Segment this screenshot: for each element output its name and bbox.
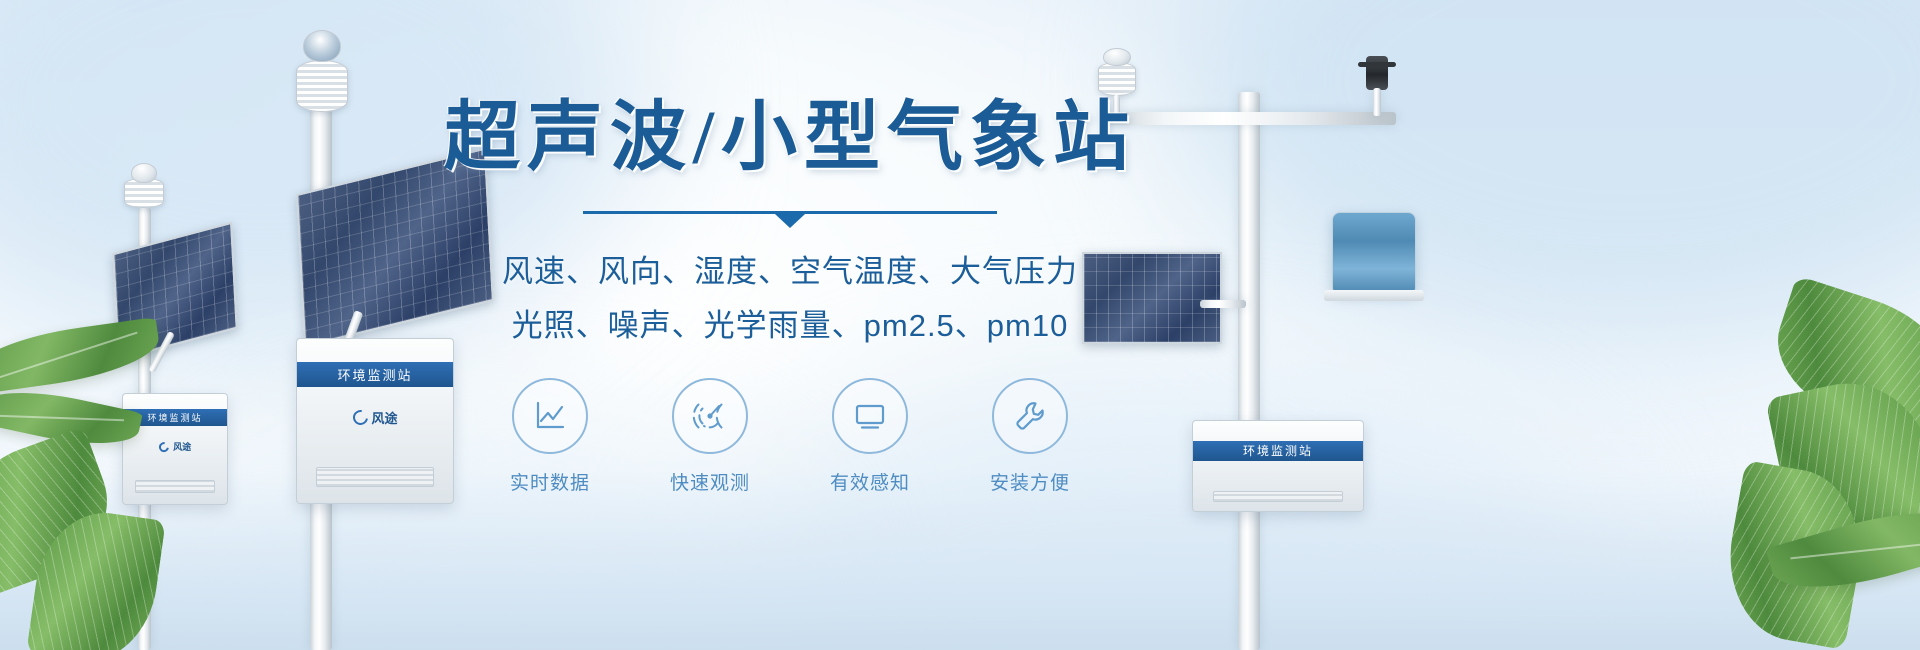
- product-banner: 环境监测站 风途 环境监测站 风途: [0, 0, 1920, 650]
- monitoring-cabinet: 环境监测站: [1192, 420, 1364, 512]
- wrench-icon: [1010, 396, 1050, 436]
- cabinet-label: 环境监测站: [1193, 441, 1363, 461]
- chevron-down-icon: [775, 214, 805, 228]
- feature-icon-circle: [672, 378, 748, 454]
- subtitle-line-2: 光照、噪声、光学雨量、pm2.5、pm10: [430, 301, 1150, 351]
- panel-support-arm: [1200, 300, 1246, 308]
- feature-label: 有效感知: [814, 468, 926, 495]
- radiation-shield-sensor: [296, 60, 348, 112]
- sensor-cap: [1103, 48, 1131, 66]
- radar-signal-icon: [690, 396, 730, 436]
- brand-mark: 风途: [123, 440, 227, 453]
- brand-logo-icon: [157, 439, 171, 453]
- feature-item-fast-observation[interactable]: 快速观测: [654, 378, 766, 495]
- feature-label: 快速观测: [654, 468, 766, 495]
- feature-item-realtime-data[interactable]: 实时数据: [494, 378, 606, 495]
- monitor-screen-icon: [850, 396, 890, 436]
- cabinet-vent: [316, 467, 435, 487]
- banner-content: 超声波/小型气象站 风速、风向、湿度、空气温度、大气压力 光照、噪声、光学雨量、…: [430, 96, 1150, 495]
- feature-icon-circle: [832, 378, 908, 454]
- sensor-cap: [131, 163, 157, 183]
- mast-pole: [1238, 92, 1260, 650]
- feature-list: 实时数据 快速观测: [430, 378, 1150, 495]
- subtitle-line-1: 风速、风向、湿度、空气温度、大气压力: [430, 247, 1150, 297]
- feature-label: 安装方便: [974, 468, 1086, 495]
- brand-label: 风途: [371, 408, 397, 427]
- cabinet-vent: [135, 480, 214, 493]
- ground-gradient: [0, 470, 1920, 650]
- ultrasonic-sensor-dome: [303, 30, 341, 62]
- brand-label: 风途: [173, 440, 191, 453]
- rain-gauge-shelf: [1324, 290, 1424, 301]
- feature-icon-circle: [992, 378, 1068, 454]
- radiation-shield-sensor: [1098, 62, 1136, 96]
- sensor-stem: [1373, 88, 1381, 116]
- title-divider: [583, 203, 997, 225]
- brand-logo-icon: [350, 407, 371, 428]
- feature-item-easy-installation[interactable]: 安装方便: [974, 378, 1086, 495]
- page-title: 超声波/小型气象站: [430, 96, 1150, 181]
- feature-label: 实时数据: [494, 468, 606, 495]
- feature-icon-circle: [512, 378, 588, 454]
- monitoring-cabinet: 环境监测站 风途: [122, 393, 228, 505]
- cabinet-vent: [1213, 491, 1342, 502]
- rain-gauge: [1332, 212, 1416, 294]
- feature-item-effective-sensing[interactable]: 有效感知: [814, 378, 926, 495]
- wind-vane-arm: [1358, 62, 1396, 67]
- line-chart-icon: [530, 396, 570, 436]
